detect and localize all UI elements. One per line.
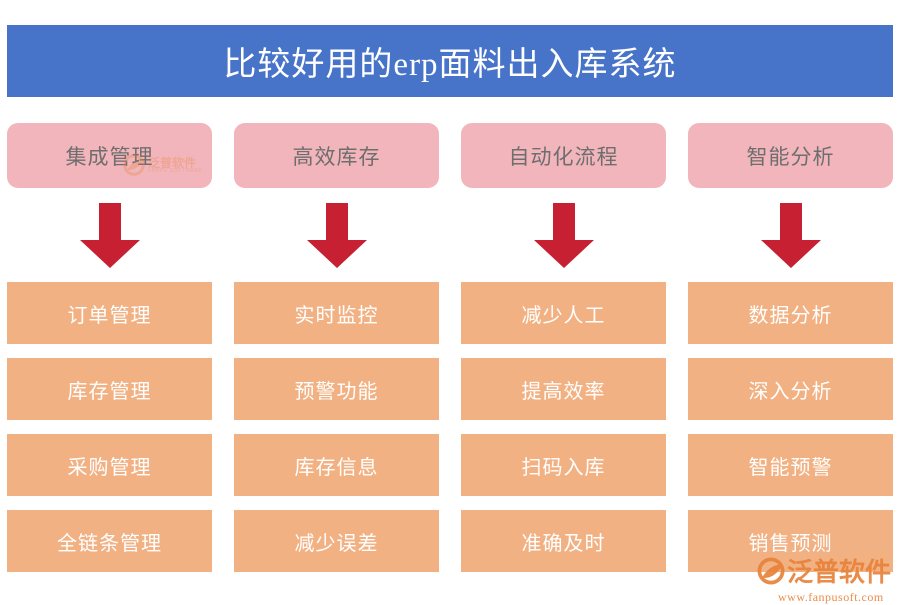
column-2-heading-card[interactable]: 高效库存 xyxy=(234,123,439,188)
column-3-item-4[interactable]: 准确及时 xyxy=(461,510,666,572)
column-1-item-1-label: 订单管理 xyxy=(68,299,152,328)
column-1-heading-card[interactable]: 集成管理 xyxy=(7,123,212,188)
column-3-item-2[interactable]: 提高效率 xyxy=(461,358,666,420)
column-2-item-4[interactable]: 减少误差 xyxy=(234,510,439,572)
column-4-item-3[interactable]: 智能预警 xyxy=(688,434,893,496)
column-4: 智能分析 数据分析 深入分析 智能预警 销售预测 xyxy=(688,123,893,572)
column-4-item-1[interactable]: 数据分析 xyxy=(688,282,893,344)
column-1-heading-label: 集成管理 xyxy=(66,141,154,171)
column-3-item-3-label: 扫码入库 xyxy=(522,451,606,480)
column-2-item-1-label: 实时监控 xyxy=(295,299,379,328)
watermark-large-url: www.fanpusoft.com xyxy=(778,590,900,605)
column-1-item-1[interactable]: 订单管理 xyxy=(7,282,212,344)
column-3-items: 减少人工 提高效率 扫码入库 准确及时 xyxy=(461,282,666,572)
column-3-item-1[interactable]: 减少人工 xyxy=(461,282,666,344)
down-arrow-icon xyxy=(534,203,594,268)
column-1-item-2[interactable]: 库存管理 xyxy=(7,358,212,420)
column-4-heading-card[interactable]: 智能分析 xyxy=(688,123,893,188)
column-4-item-4-label: 销售预测 xyxy=(749,527,833,556)
column-4-item-2-label: 深入分析 xyxy=(749,375,833,404)
column-3-item-4-label: 准确及时 xyxy=(522,527,606,556)
column-2-item-3[interactable]: 库存信息 xyxy=(234,434,439,496)
column-2-item-4-label: 减少误差 xyxy=(295,527,379,556)
column-2-item-3-label: 库存信息 xyxy=(295,451,379,480)
column-4-items: 数据分析 深入分析 智能预警 销售预测 xyxy=(688,282,893,572)
column-3-heading-label: 自动化流程 xyxy=(509,141,619,171)
column-1-item-2-label: 库存管理 xyxy=(68,375,152,404)
column-1-item-3[interactable]: 采购管理 xyxy=(7,434,212,496)
page-title: 比较好用的erp面料出入库系统 xyxy=(223,37,676,85)
column-3-item-3[interactable]: 扫码入库 xyxy=(461,434,666,496)
column-2-arrow xyxy=(234,188,439,282)
column-1-arrow xyxy=(7,188,212,282)
infographic-canvas: 比较好用的erp面料出入库系统 集成管理 订单管理 库存管理 采 xyxy=(0,0,900,600)
column-1-item-4-label: 全链条管理 xyxy=(57,527,162,556)
down-arrow-icon xyxy=(80,203,140,268)
column-2-item-2-label: 预警功能 xyxy=(295,375,379,404)
column-3-arrow xyxy=(461,188,666,282)
column-2-items: 实时监控 预警功能 库存信息 减少误差 xyxy=(234,282,439,572)
column-4-item-1-label: 数据分析 xyxy=(749,299,833,328)
column-2: 高效库存 实时监控 预警功能 库存信息 减少误差 xyxy=(234,123,439,572)
column-1-items: 订单管理 库存管理 采购管理 全链条管理 xyxy=(7,282,212,572)
down-arrow-icon xyxy=(761,203,821,268)
title-banner: 比较好用的erp面料出入库系统 xyxy=(7,25,893,97)
column-3-item-2-label: 提高效率 xyxy=(522,375,606,404)
column-1-item-3-label: 采购管理 xyxy=(68,451,152,480)
column-3-heading-card[interactable]: 自动化流程 xyxy=(461,123,666,188)
column-1: 集成管理 订单管理 库存管理 采购管理 全链条管理 xyxy=(7,123,212,572)
column-1-item-4[interactable]: 全链条管理 xyxy=(7,510,212,572)
column-4-arrow xyxy=(688,188,893,282)
column-2-item-2[interactable]: 预警功能 xyxy=(234,358,439,420)
column-2-heading-label: 高效库存 xyxy=(293,141,381,171)
column-4-heading-label: 智能分析 xyxy=(747,141,835,171)
column-4-item-2[interactable]: 深入分析 xyxy=(688,358,893,420)
column-3-item-1-label: 减少人工 xyxy=(522,299,606,328)
column-4-item-3-label: 智能预警 xyxy=(749,451,833,480)
column-4-item-4[interactable]: 销售预测 xyxy=(688,510,893,572)
down-arrow-icon xyxy=(307,203,367,268)
column-2-item-1[interactable]: 实时监控 xyxy=(234,282,439,344)
columns-container: 集成管理 订单管理 库存管理 采购管理 全链条管理 xyxy=(7,123,893,572)
column-3: 自动化流程 减少人工 提高效率 扫码入库 准确及时 xyxy=(461,123,666,572)
